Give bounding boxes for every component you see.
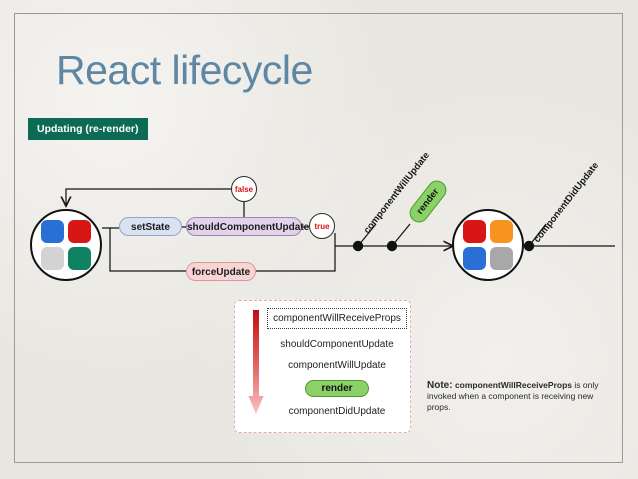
lifecycle-step-component-will-update: componentWillUpdate xyxy=(267,359,407,372)
lifecycle-step-render: render xyxy=(305,380,368,397)
lifecycle-step-list: componentWillReceiveProps shouldComponen… xyxy=(267,308,407,426)
node-force-update[interactable]: forceUpdate xyxy=(186,262,256,281)
component-squares-after xyxy=(463,220,513,270)
branch-label-false: false xyxy=(231,176,257,202)
note-text: Note: componentWillReceiveProps is only … xyxy=(427,380,607,413)
branch-label-true: true xyxy=(309,213,335,239)
slide-canvas: React lifecycle Updating (re-render) xyxy=(0,0,638,479)
component-circle-after xyxy=(452,209,524,281)
note-lead: Note: xyxy=(427,380,453,391)
component-squares-before xyxy=(41,220,91,270)
lifecycle-sequence-panel: componentWillReceiveProps shouldComponen… xyxy=(234,300,411,433)
status-badge-updating: Updating (re-render) xyxy=(28,118,148,140)
lifecycle-step-should-component-update: shouldComponentUpdate xyxy=(267,338,407,351)
node-should-component-update[interactable]: shouldComponentUpdate xyxy=(186,217,302,236)
down-arrow-icon xyxy=(248,310,264,422)
note-highlight: componentWillReceiveProps xyxy=(455,380,572,390)
lifecycle-step-component-did-update: componentDidUpdate xyxy=(267,405,407,418)
page-title: React lifecycle xyxy=(56,47,313,94)
lifecycle-step-component-will-receive-props: componentWillReceiveProps xyxy=(267,308,407,329)
lifecycle-step-render-wrapper: render xyxy=(267,380,407,397)
node-set-state[interactable]: setState xyxy=(119,217,182,236)
component-circle-before xyxy=(30,209,102,281)
